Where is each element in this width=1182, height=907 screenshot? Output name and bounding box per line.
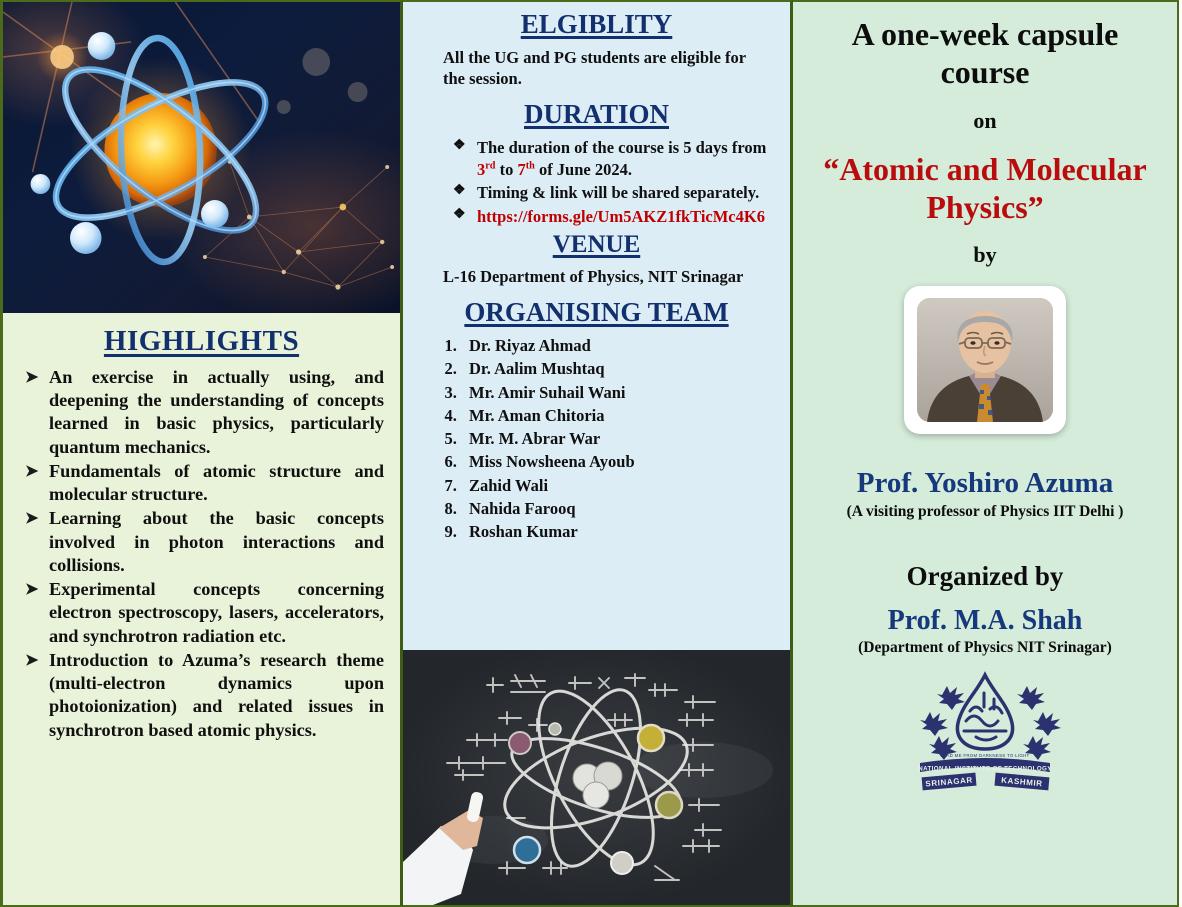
duration-text-pre: The duration of the course is 5 days fro… — [477, 138, 766, 157]
speaker-name: Prof. Yoshiro Azuma — [857, 468, 1113, 500]
organizer-name: Prof. M.A. Shah — [888, 606, 1083, 637]
highlight-text: Introduction to Azuma’s research theme (… — [49, 650, 384, 740]
duration-text-mid: to — [495, 160, 517, 179]
registration-link[interactable]: https://forms.gle/Um5AKZ1fkTicMc4K6 — [477, 207, 765, 226]
diamond-bullet-icon: ❖ — [453, 206, 466, 224]
highlights-list: ➤An exercise in actually using, and deep… — [17, 366, 386, 742]
page-title: A one-week capsule course — [811, 16, 1159, 92]
duration-timing-text: Timing & link will be shared separately. — [477, 183, 759, 202]
organising-team-list: Dr. Riyaz Ahmad Dr. Aalim Mushtaq Mr. Am… — [415, 335, 778, 544]
arrow-bullet-icon: ➤ — [25, 508, 38, 530]
avatar — [917, 298, 1053, 422]
list-item: ➤Experimental concepts concerning electr… — [23, 578, 384, 648]
logo-motto: LEAD ME FROM DARKNESS TO LIGHT — [940, 753, 1029, 758]
organising-team-heading: ORGANISING TEAM — [415, 297, 778, 328]
blackboard-image — [403, 650, 790, 905]
brochure: HIGHLIGHTS ➤An exercise in actually usin… — [0, 0, 1182, 907]
highlight-text: Experimental concepts concerning electro… — [49, 579, 384, 645]
middle-panel: ELGIBLITY All the UG and PG students are… — [403, 0, 793, 907]
arrow-bullet-icon: ➤ — [25, 650, 38, 672]
highlight-text: Learning about the basic concepts involv… — [49, 508, 384, 574]
nit-srinagar-logo-icon: LEAD ME FROM DARKNESS TO LIGHT NATIONAL … — [898, 671, 1073, 791]
list-item: ❖ The duration of the course is 5 days f… — [453, 137, 772, 180]
diamond-bullet-icon: ❖ — [453, 137, 466, 155]
list-item: Dr. Aalim Mushtaq — [461, 358, 778, 381]
list-item: Miss Nowsheena Ayoub — [461, 451, 778, 474]
right-panel: A one-week capsule course on “Atomic and… — [793, 0, 1179, 907]
date-from: 3rd — [477, 160, 495, 179]
organized-by-label: Organized by — [907, 561, 1064, 592]
venue-text: L-16 Department of Physics, NIT Srinagar — [415, 266, 778, 287]
left-panel: HIGHLIGHTS ➤An exercise in actually usin… — [0, 0, 403, 907]
duration-list: ❖ The duration of the course is 5 days f… — [415, 137, 778, 227]
list-item: ➤Learning about the basic concepts invol… — [23, 507, 384, 577]
eligibility-heading: ELGIBLITY — [415, 9, 778, 40]
speaker-affiliation: (A visiting professor of Physics IIT Del… — [847, 503, 1124, 521]
list-item: ➤Fundamentals of atomic structure and mo… — [23, 460, 384, 506]
duration-heading: DURATION — [415, 99, 778, 130]
middle-content: ELGIBLITY All the UG and PG students are… — [403, 2, 790, 650]
list-item: ❖ https://forms.gle/Um5AKZ1fkTicMc4K6 — [453, 206, 772, 227]
by-label: by — [973, 242, 996, 268]
list-item: Mr. Amir Suhail Wani — [461, 382, 778, 405]
list-item: ❖ Timing & link will be shared separatel… — [453, 182, 772, 203]
list-item: ➤Introduction to Azuma’s research theme … — [23, 649, 384, 742]
highlights-title: HIGHLIGHTS — [17, 325, 386, 358]
venue-heading: VENUE — [415, 231, 778, 259]
list-item: Nahida Farooq — [461, 498, 778, 521]
list-item: Roshan Kumar — [461, 521, 778, 544]
list-item: Mr. Aman Chitoria — [461, 405, 778, 428]
diamond-bullet-icon: ❖ — [453, 182, 466, 200]
arrow-bullet-icon: ➤ — [25, 461, 38, 483]
atom-illustration-image — [3, 2, 400, 313]
speaker-photo-frame — [904, 286, 1066, 434]
list-item: ➤An exercise in actually using, and deep… — [23, 366, 384, 459]
eligibility-text: All the UG and PG students are eligible … — [415, 47, 778, 89]
highlight-text: An exercise in actually using, and deepe… — [49, 367, 384, 457]
list-item: Mr. M. Abrar War — [461, 428, 778, 451]
duration-text-post: of June 2024. — [535, 160, 632, 179]
arrow-bullet-icon: ➤ — [25, 579, 38, 601]
organizer-affiliation: (Department of Physics NIT Srinagar) — [858, 639, 1112, 657]
date-to: 7th — [517, 160, 534, 179]
logo-text-top: NATIONAL INSTITUTE OF TECHNOLOGY — [918, 765, 1052, 772]
arrow-bullet-icon: ➤ — [25, 367, 38, 389]
highlights-section: HIGHLIGHTS ➤An exercise in actually usin… — [3, 313, 400, 743]
on-label: on — [973, 108, 996, 134]
list-item: Zahid Wali — [461, 475, 778, 498]
highlight-text: Fundamentals of atomic structure and mol… — [49, 461, 384, 504]
list-item: Dr. Riyaz Ahmad — [461, 335, 778, 358]
course-title: “Atomic and Molecular Physics” — [803, 150, 1167, 227]
